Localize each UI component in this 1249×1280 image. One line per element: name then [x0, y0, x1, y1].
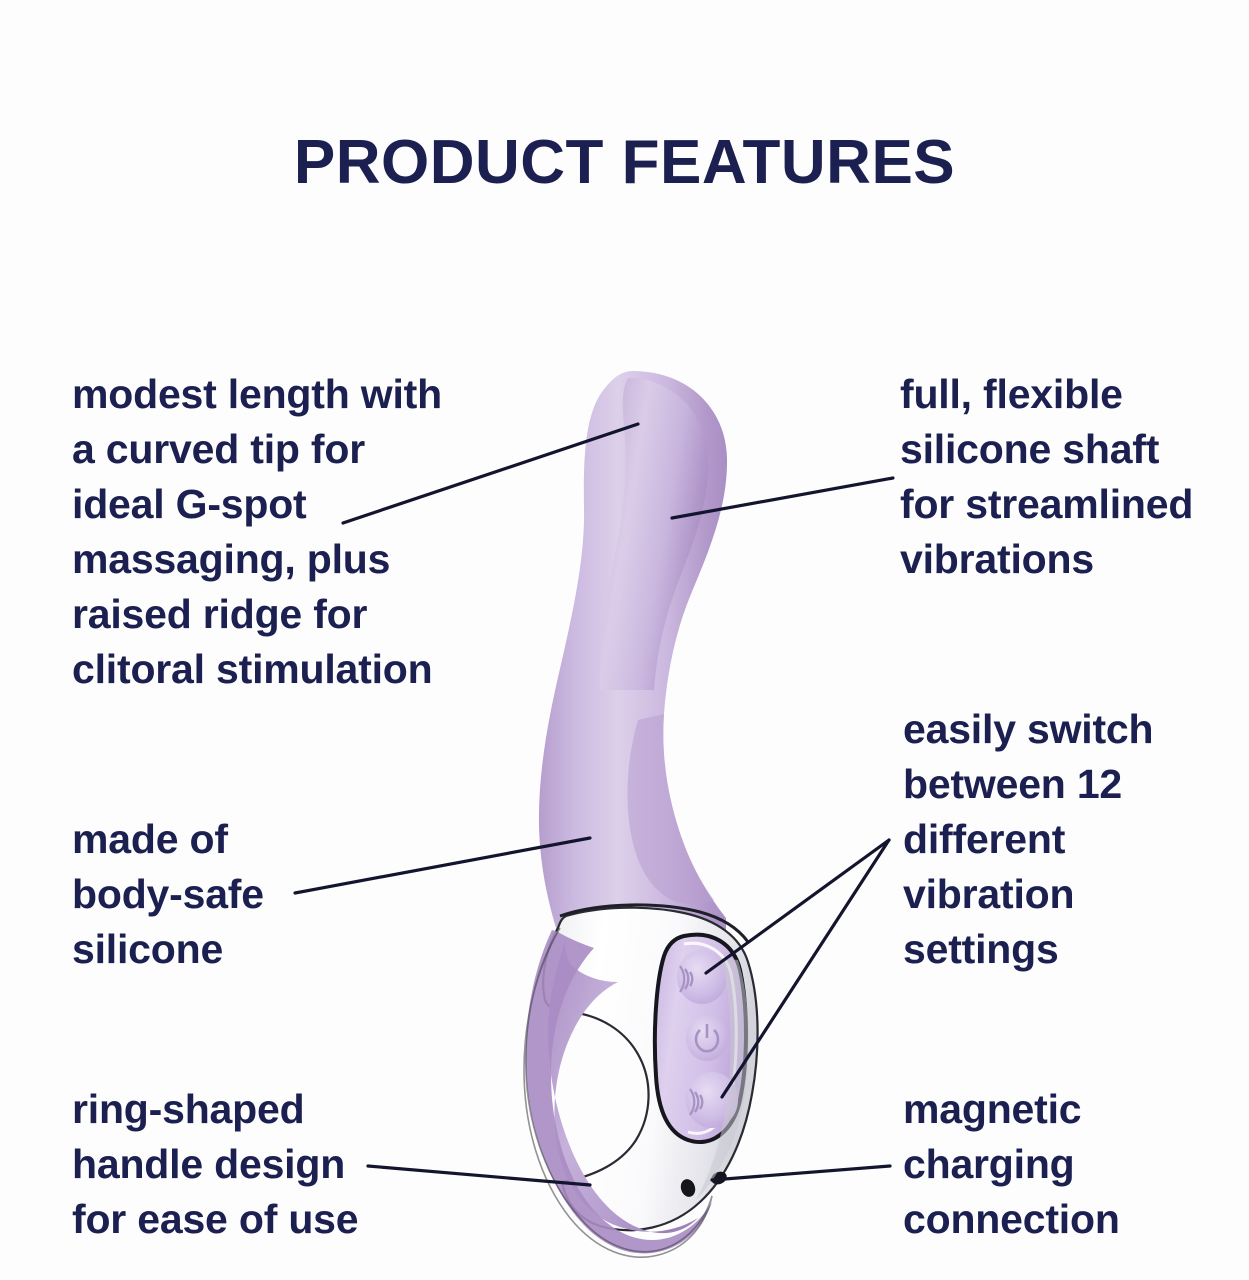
leader-vibration-upper: [706, 840, 889, 973]
callout-flexible-shaft: full, flexible silicone shaft for stream…: [900, 367, 1230, 587]
callout-curved-tip: modest length with a curved tip for idea…: [72, 367, 502, 697]
callout-vibration-modes: easily switch between 12 different vibra…: [903, 702, 1193, 977]
callout-magnetic-charge: magnetic charging connection: [903, 1082, 1203, 1247]
callout-body-safe: made of body-safe silicone: [72, 812, 402, 977]
product-features-infographic: PRODUCT FEATURES: [0, 0, 1249, 1280]
leader-flexible-shaft: [672, 478, 893, 518]
callout-ring-handle: ring-shaped handle design for ease of us…: [72, 1082, 432, 1247]
leader-vibration-lower: [722, 840, 889, 1097]
leader-magnetic-charge: [712, 1166, 890, 1180]
